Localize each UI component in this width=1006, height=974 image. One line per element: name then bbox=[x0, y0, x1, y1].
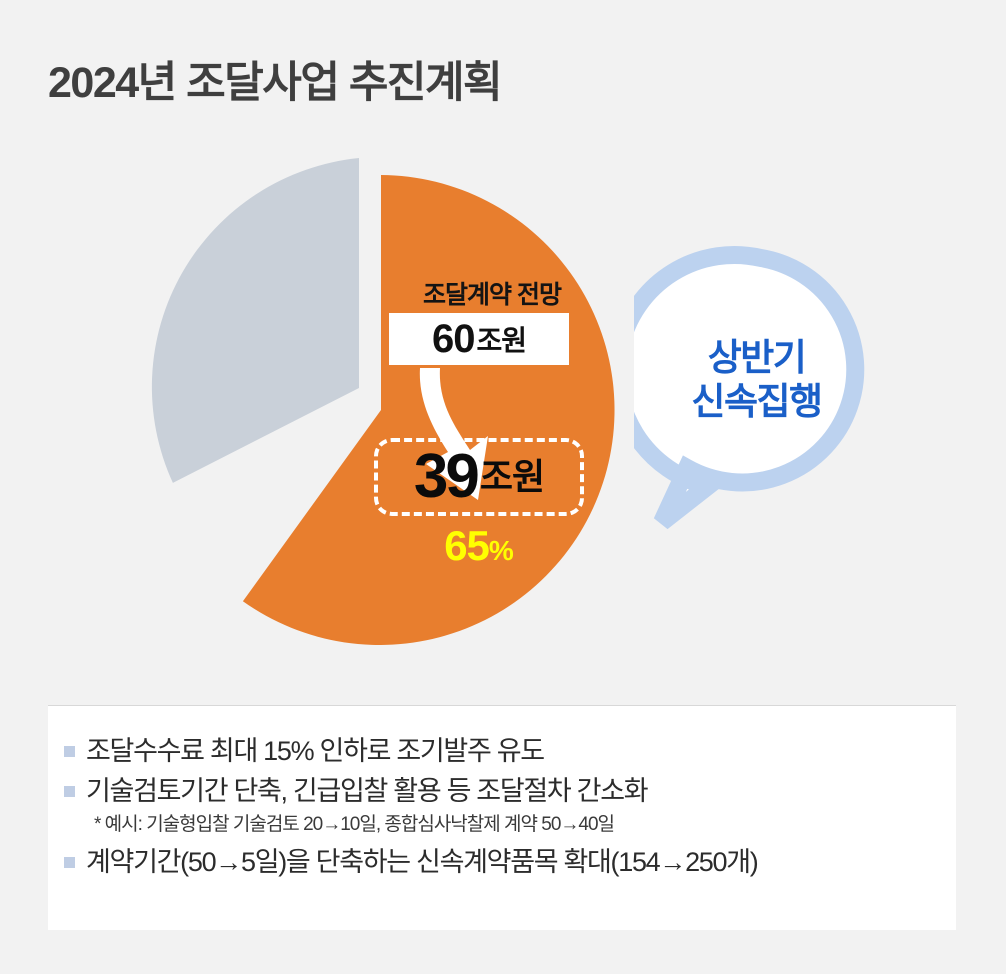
bullet-square-icon bbox=[64, 786, 75, 797]
summary-card: 조달수수료 최대 15% 인하로 조기발주 유도 기술검토기간 단축, 긴급입찰… bbox=[48, 705, 956, 930]
pie-chart-svg bbox=[120, 150, 680, 670]
list-item: 조달수수료 최대 15% 인하로 조기발주 유도 bbox=[64, 732, 946, 770]
pie-slice-remaining bbox=[152, 158, 359, 483]
speech-bubble-line-2: 신속집행 bbox=[634, 380, 879, 424]
list-item: 계약기간(50→5일)을 단축하는 신속계약품목 확대(154→250개) bbox=[64, 843, 946, 881]
highlight-percent: 65% bbox=[374, 522, 584, 570]
list-item: 기술검토기간 단축, 긴급입찰 활용 등 조달절차 간소화 bbox=[64, 772, 946, 810]
pie-chart-section: 조달계약 전망 60조원 39조원 65% 상반기 신속집행 bbox=[0, 150, 1006, 690]
page-title: 2024년 조달사업 추진계획 bbox=[48, 48, 501, 110]
bullet-square-icon bbox=[64, 746, 75, 757]
bullet-text: 계약기간(50→5일)을 단축하는 신속계약품목 확대(154→250개) bbox=[86, 843, 757, 881]
bullet-square-icon bbox=[64, 857, 75, 868]
speech-bubble: 상반기 신속집행 bbox=[634, 240, 894, 540]
total-value-number: 60 bbox=[432, 317, 475, 362]
highlight-value-unit: 조원 bbox=[480, 459, 544, 495]
speech-bubble-line-1: 상반기 bbox=[634, 336, 879, 380]
bullet-list: 조달수수료 최대 15% 인하로 조기발주 유도 기술검토기간 단축, 긴급입찰… bbox=[64, 732, 946, 883]
percent-symbol: % bbox=[489, 535, 514, 566]
percent-number: 65 bbox=[444, 522, 489, 569]
pie-overlay-title: 조달계약 전망 bbox=[392, 275, 592, 311]
highlight-value-box: 39조원 bbox=[374, 438, 584, 516]
bullet-text: 조달수수료 최대 15% 인하로 조기발주 유도 bbox=[86, 732, 544, 770]
total-value-box: 60조원 bbox=[389, 313, 569, 365]
highlight-value-number: 39 bbox=[414, 446, 477, 508]
speech-bubble-text: 상반기 신속집행 bbox=[634, 336, 879, 423]
bullet-sub-note: * 예시: 기술형입찰 기술검토 20→10일, 종합심사낙찰제 계약 50→4… bbox=[94, 811, 946, 840]
total-value-unit: 조원 bbox=[476, 319, 526, 359]
infographic-page: 2024년 조달사업 추진계획 조달계약 전망 60조원 39조원 65% bbox=[0, 0, 1006, 974]
bullet-text: 기술검토기간 단축, 긴급입찰 활용 등 조달절차 간소화 bbox=[86, 772, 647, 810]
